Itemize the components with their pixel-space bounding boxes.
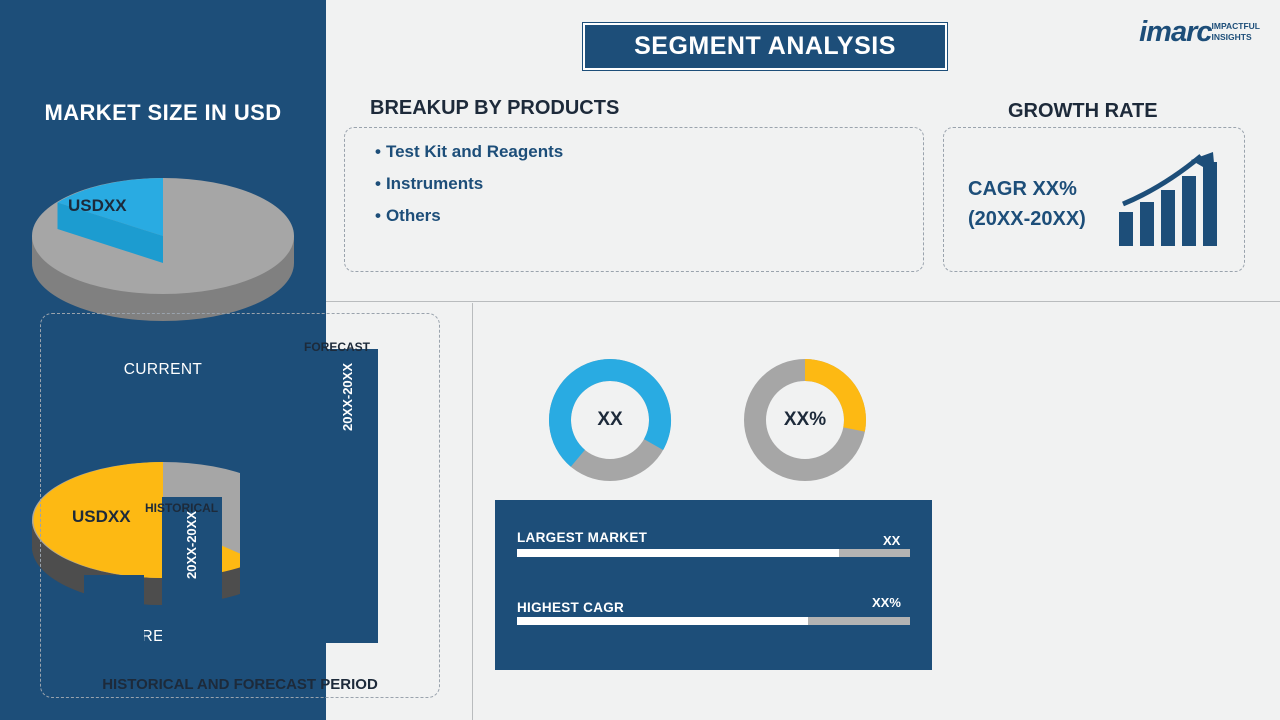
bullet-icon: • [375, 142, 381, 161]
highest-cagr-fill [517, 617, 808, 625]
donut-chart-1: XX [548, 358, 672, 482]
breakup-item: •Test Kit and Reagents [375, 142, 923, 162]
donut-chart-2: XX% [743, 358, 867, 482]
breakup-item-label: Instruments [386, 174, 483, 193]
bar-3 [240, 435, 300, 643]
bullet-icon: • [375, 206, 381, 225]
largest-market-fill [517, 549, 839, 557]
bar-2-label: 20XX-20XX [184, 511, 199, 579]
pie-current-value: USDXX [68, 196, 127, 216]
highest-cagr-value: XX% [872, 595, 901, 610]
logo-wordmark: imarc [1139, 16, 1211, 49]
bar-4-label: 20XX-20XX [340, 363, 355, 431]
vertical-divider [472, 303, 473, 720]
growth-rate-heading: GROWTH RATE [1008, 100, 1158, 123]
breakup-item: •Others [375, 206, 923, 226]
growth-arrow-chart-icon [1117, 150, 1222, 255]
bar-chart: 20XX-20XX 20XX-20XX HISTORICAL FORECAST [40, 313, 440, 698]
bar-1 [84, 575, 144, 643]
imarc-logo: imarc IMPACTFUL INSIGHTS [1139, 12, 1260, 52]
logo-tagline-1: IMPACTFUL [1212, 21, 1260, 32]
segment-analysis-banner: SEGMENT ANALYSIS [583, 23, 947, 70]
bar-chart-caption: HISTORICAL AND FORECAST PERIOD [40, 676, 440, 693]
highest-cagr-label: HIGHEST CAGR [517, 600, 624, 615]
breakup-heading: BREAKUP BY PRODUCTS [370, 97, 619, 120]
forecast-annotation: FORECAST [304, 340, 370, 354]
bullet-icon: • [375, 174, 381, 193]
cagr-line-2: (20XX-20XX) [968, 204, 1086, 234]
pie-chart-current [28, 168, 298, 303]
breakup-item-label: Test Kit and Reagents [386, 142, 563, 161]
donut-1-label: XX [548, 358, 672, 482]
logo-tagline-2: INSIGHTS [1212, 32, 1260, 43]
growth-rate-box: CAGR XX% (20XX-20XX) [943, 127, 1245, 272]
largest-market-label: LARGEST MARKET [517, 530, 647, 545]
banner-title: SEGMENT ANALYSIS [634, 32, 896, 61]
breakup-item-label: Others [386, 206, 441, 225]
historical-annotation: HISTORICAL [145, 501, 218, 515]
cagr-text: CAGR XX% (20XX-20XX) [968, 174, 1086, 234]
bar-4: 20XX-20XX [318, 349, 378, 643]
donut-2-label: XX% [743, 358, 867, 482]
market-size-heading: MARKET SIZE IN USD [0, 100, 326, 126]
infographic-page: MARKET SIZE IN USD USDXX CURRENT USDXX [0, 0, 1280, 720]
largest-market-value: XX [883, 533, 900, 548]
breakup-box: •Test Kit and Reagents •Instruments •Oth… [344, 127, 924, 272]
breakup-item: •Instruments [375, 174, 923, 194]
stats-card: LARGEST MARKET XX HIGHEST CAGR XX% [495, 500, 932, 670]
cagr-line-1: CAGR XX% [968, 174, 1086, 204]
bar-2: 20XX-20XX [162, 497, 222, 643]
